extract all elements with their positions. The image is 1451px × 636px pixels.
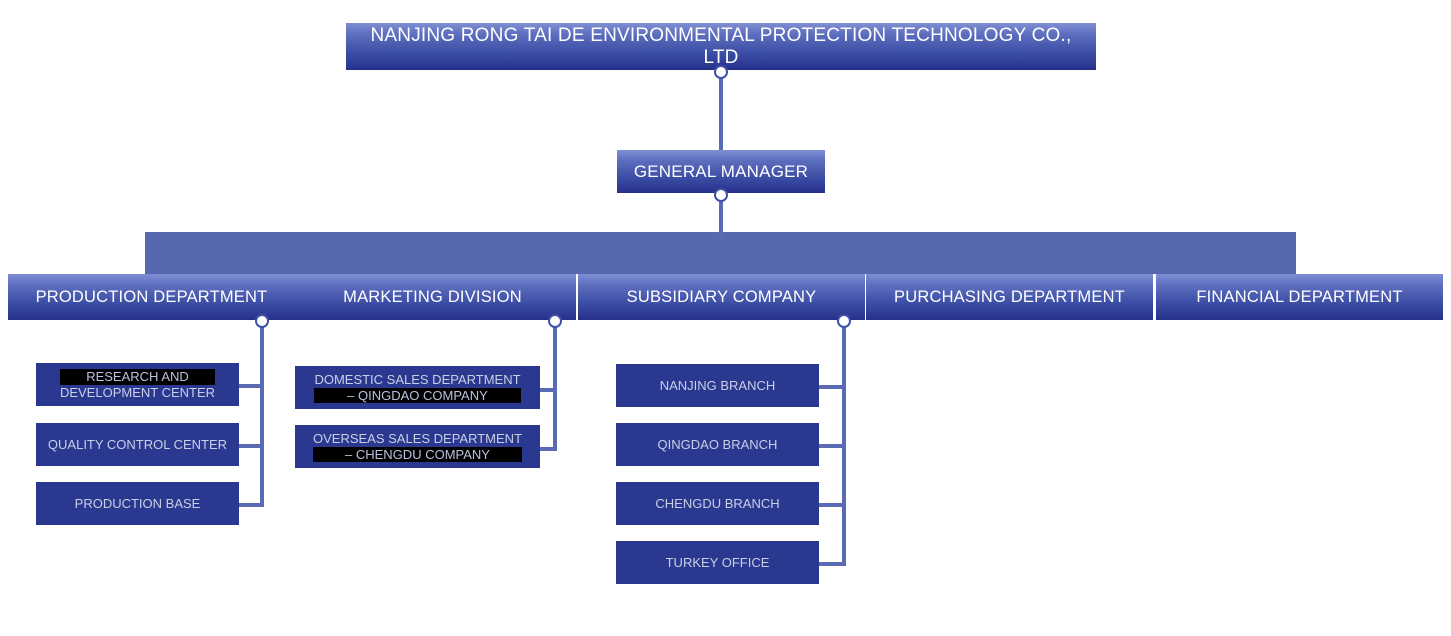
leaf-nanjing-branch[interactable]: NANJING BRANCH <box>616 364 819 407</box>
connector-dot-root <box>714 65 728 79</box>
leaf-overseas-sales-department-chengdu-line1: OVERSEAS SALES DEPARTMENT <box>313 431 522 446</box>
connector-stub-turkey-office <box>818 562 846 566</box>
connector-stub-qingdao-branch <box>818 444 846 448</box>
leaf-production-base[interactable]: PRODUCTION BASE <box>36 482 239 525</box>
connector-stub-nanjing-branch <box>818 385 846 389</box>
leaf-quality-control-center-line1: QUALITY CONTROL CENTER <box>48 437 227 452</box>
node-purchasing-department[interactable]: PURCHASING DEPARTMENT <box>866 274 1153 320</box>
leaf-research-and-development-center-line1: RESEARCH AND <box>60 369 215 384</box>
node-general-manager-label: GENERAL MANAGER <box>628 162 814 181</box>
leaf-qingdao-branch[interactable]: QINGDAO BRANCH <box>616 423 819 466</box>
leaf-quality-control-center[interactable]: QUALITY CONTROL CENTER <box>36 423 239 466</box>
leaf-production-base-line1: PRODUCTION BASE <box>75 496 201 511</box>
node-general-manager[interactable]: GENERAL MANAGER <box>617 150 825 193</box>
connector-dot-marketing-division <box>548 314 562 328</box>
leaf-chengdu-branch[interactable]: CHENGDU BRANCH <box>616 482 819 525</box>
org-chart: NANJING RONG TAI DE ENVIRONMENTAL PROTEC… <box>0 0 1451 636</box>
leaf-research-and-development-center-line2: DEVELOPMENT CENTER <box>60 385 215 400</box>
node-financial-department[interactable]: FINANCIAL DEPARTMENT <box>1156 274 1443 320</box>
connector-stub-chengdu-branch <box>818 503 846 507</box>
node-subsidiary-company[interactable]: SUBSIDIARY COMPANY <box>578 274 865 320</box>
connector-dot-general-manager <box>714 188 728 202</box>
leaf-turkey-office-line1: TURKEY OFFICE <box>666 555 770 570</box>
leaf-domestic-sales-department-qingdao-line2: – QINGDAO COMPANY <box>314 388 520 403</box>
leaf-nanjing-branch-line1: NANJING BRANCH <box>660 378 776 393</box>
leaf-domestic-sales-department-qingdao[interactable]: DOMESTIC SALES DEPARTMENT – QINGDAO COMP… <box>295 366 540 409</box>
node-production-department[interactable]: PRODUCTION DEPARTMENT <box>8 274 295 320</box>
leaf-chengdu-branch-line1: CHENGDU BRANCH <box>655 496 779 511</box>
connector-dot-production-department <box>255 314 269 328</box>
node-marketing-division-label: MARKETING DIVISION <box>337 288 528 306</box>
connector-stub-quality-control-center <box>238 444 264 448</box>
leaf-domestic-sales-department-qingdao-line1: DOMESTIC SALES DEPARTMENT <box>314 372 520 387</box>
connector-trunk-marketing <box>553 321 557 448</box>
connector-trunk-production <box>260 321 264 506</box>
connector-dot-subsidiary-company <box>837 314 851 328</box>
leaf-research-and-development-center[interactable]: RESEARCH AND DEVELOPMENT CENTER <box>36 363 239 406</box>
node-company-root-label: NANJING RONG TAI DE ENVIRONMENTAL PROTEC… <box>346 25 1096 68</box>
leaf-turkey-office[interactable]: TURKEY OFFICE <box>616 541 819 584</box>
connector-stub-research-and-development-center <box>238 384 264 388</box>
connector-root-to-general-manager <box>719 72 723 150</box>
node-purchasing-department-label: PURCHASING DEPARTMENT <box>888 288 1131 306</box>
node-company-root[interactable]: NANJING RONG TAI DE ENVIRONMENTAL PROTEC… <box>346 23 1096 70</box>
node-subsidiary-company-label: SUBSIDIARY COMPANY <box>621 288 823 306</box>
leaf-overseas-sales-department-chengdu[interactable]: OVERSEAS SALES DEPARTMENT – CHENGDU COMP… <box>295 425 540 468</box>
leaf-overseas-sales-department-chengdu-line2: – CHENGDU COMPANY <box>313 447 522 462</box>
connector-stub-production-base <box>238 503 264 507</box>
leaf-qingdao-branch-line1: QINGDAO BRANCH <box>658 437 778 452</box>
node-production-department-label: PRODUCTION DEPARTMENT <box>30 288 274 306</box>
node-marketing-division[interactable]: MARKETING DIVISION <box>289 274 576 320</box>
node-financial-department-label: FINANCIAL DEPARTMENT <box>1190 288 1408 306</box>
